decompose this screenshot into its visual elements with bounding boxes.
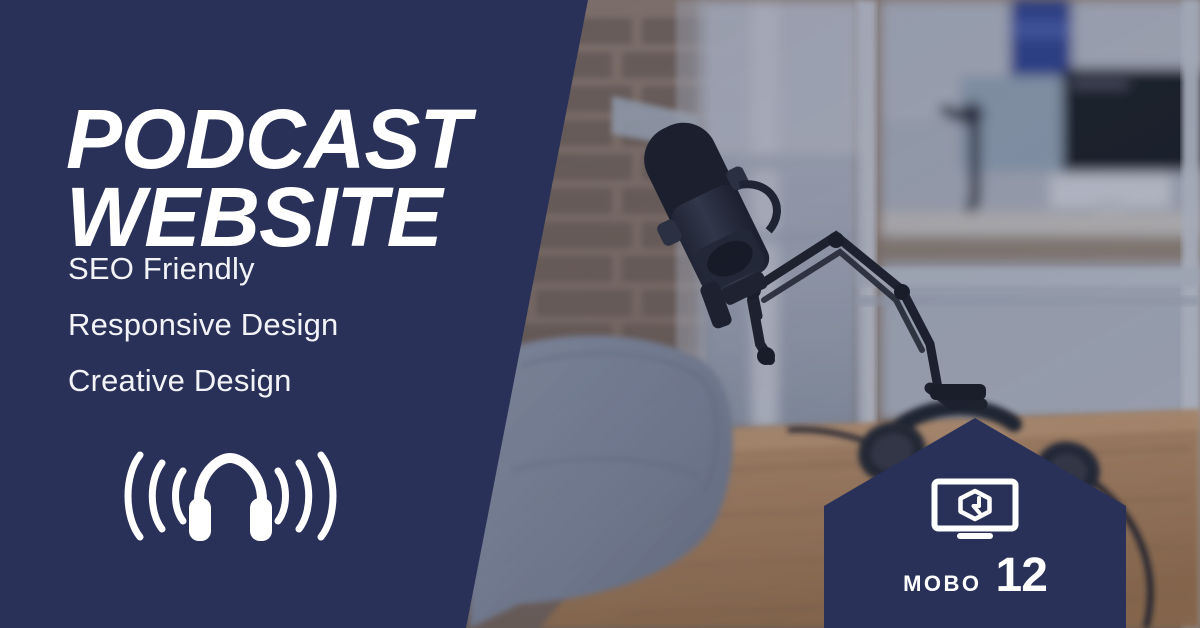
podcast-website-banner: Podcast Website SEO Friendly Responsive … <box>0 0 1200 628</box>
badge-text: MOBO 12 <box>903 552 1047 600</box>
status-badge: MOBO 12 <box>824 418 1126 628</box>
feature-list: SEO Friendly Responsive Design Creative … <box>68 253 339 396</box>
badge-brand-label: MOBO <box>903 571 981 597</box>
title-line-1: Podcast <box>66 100 586 178</box>
title-line-2: Website <box>66 178 586 256</box>
monitor-hexagon-pen-icon <box>931 478 1019 540</box>
list-item: SEO Friendly <box>68 253 339 284</box>
list-item: Responsive Design <box>68 309 339 340</box>
list-item: Creative Design <box>68 365 339 396</box>
left-content: Podcast Website SEO Friendly Responsive … <box>0 0 600 628</box>
headphones-broadcast-icon <box>123 443 338 548</box>
page-title: Podcast Website <box>66 100 586 256</box>
badge-number: 12 <box>996 552 1047 600</box>
headphones-broadcast-artwork <box>123 443 338 548</box>
monitor-hexagon-pen-artwork <box>931 478 1019 540</box>
badge-content: MOBO 12 <box>824 418 1126 628</box>
